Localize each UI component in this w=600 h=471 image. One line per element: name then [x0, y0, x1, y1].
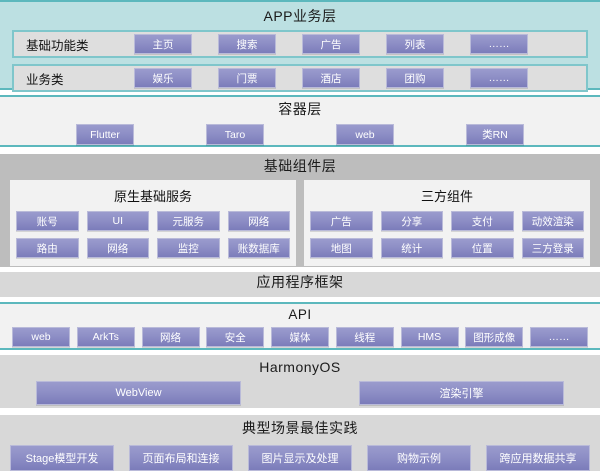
chip-api-media[interactable]: 媒体 — [271, 327, 329, 347]
chip-api-thread[interactable]: 线程 — [336, 327, 394, 347]
chip-third-map[interactable]: 地图 — [310, 238, 373, 258]
chip-third-login[interactable]: 三方登录 — [522, 238, 585, 258]
chip-third-ads[interactable]: 广告 — [310, 211, 373, 231]
chip-practice-image-display[interactable]: 图片显示及处理 — [248, 445, 352, 471]
layer-container: 容器层 Flutter Taro web 类RN — [0, 95, 600, 147]
chip-practice-shopping-demo[interactable]: 购物示例 — [367, 445, 471, 471]
panel-native-services: 原生基础服务 账号 UI 元服务 网络 路由 网络 监控 账数据库 — [10, 180, 296, 266]
chip-native-router[interactable]: 路由 — [16, 238, 79, 258]
layer-app-business: APP业务层 基础功能类 主页 搜索 广告 列表 …… 业务类 娱乐 门票 酒店 — [0, 0, 600, 90]
app-row-business: 业务类 娱乐 门票 酒店 团购 …… — [12, 64, 588, 92]
chip-business-entertainment[interactable]: 娱乐 — [134, 68, 192, 88]
layer-base-components: 基础组件层 原生基础服务 账号 UI 元服务 网络 路由 网络 监控 账数据库 … — [0, 154, 600, 267]
app-row-items-basic-functions: 主页 搜索 广告 列表 …… — [134, 34, 582, 54]
chip-native-metaservice[interactable]: 元服务 — [157, 211, 220, 231]
chip-app-more[interactable]: …… — [470, 34, 528, 54]
chip-container-rnlike[interactable]: 类RN — [466, 124, 524, 145]
chip-native-account[interactable]: 账号 — [16, 211, 79, 231]
chip-native-network[interactable]: 网络 — [228, 211, 291, 231]
chip-native-ui[interactable]: UI — [87, 211, 150, 231]
chip-app-home[interactable]: 主页 — [134, 34, 192, 54]
layer-title-best-practice: 典型场景最佳实践 — [0, 422, 600, 437]
chip-harmony-webview[interactable]: WebView — [36, 381, 241, 405]
chip-api-arkts[interactable]: ArkTs — [77, 327, 135, 347]
chip-third-payment[interactable]: 支付 — [451, 211, 514, 231]
harmony-items: WebView 渲染引擎 — [0, 376, 600, 405]
app-row-label-basic-functions: 基础功能类 — [18, 35, 134, 54]
chip-container-flutter[interactable]: Flutter — [76, 124, 134, 145]
app-row-items-business: 娱乐 门票 酒店 团购 …… — [134, 68, 582, 88]
practice-items: Stage模型开发 页面布局和连接 图片显示及处理 购物示例 跨应用数据共享 — [0, 437, 600, 471]
panel-third-party: 三方组件 广告 分享 支付 动效渲染 地图 统计 位置 三方登录 — [304, 180, 590, 266]
api-items: web ArkTs 网络 安全 媒体 线程 HMS 图形成像 …… — [0, 322, 600, 347]
layer-harmonyos: HarmonyOS WebView 渲染引擎 — [0, 355, 600, 408]
chip-api-web[interactable]: web — [12, 327, 70, 347]
chip-api-graphics[interactable]: 图形成像 — [465, 327, 523, 347]
layer-title-api: API — [0, 308, 600, 323]
chip-native-network-2[interactable]: 网络 — [87, 238, 150, 258]
chip-container-web[interactable]: web — [336, 124, 394, 145]
chip-business-hotel[interactable]: 酒店 — [302, 68, 360, 88]
chip-app-ads[interactable]: 广告 — [302, 34, 360, 54]
divider-harmony-practice — [0, 408, 600, 415]
chip-native-monitor[interactable]: 监控 — [157, 238, 220, 258]
layer-best-practice: 典型场景最佳实践 Stage模型开发 页面布局和连接 图片显示及处理 购物示例 … — [0, 415, 600, 471]
base-panels: 原生基础服务 账号 UI 元服务 网络 路由 网络 监控 账数据库 三方组件 广… — [0, 180, 600, 274]
chip-api-network[interactable]: 网络 — [142, 327, 200, 347]
chip-app-list[interactable]: 列表 — [386, 34, 444, 54]
chip-third-share[interactable]: 分享 — [381, 211, 444, 231]
chip-api-more[interactable]: …… — [530, 327, 588, 347]
panel-title-third-party: 三方组件 — [310, 186, 584, 205]
third-party-grid: 广告 分享 支付 动效渲染 地图 统计 位置 三方登录 — [310, 211, 584, 258]
chip-app-search[interactable]: 搜索 — [218, 34, 276, 54]
chip-practice-page-layout[interactable]: 页面布局和连接 — [129, 445, 233, 471]
chip-api-security[interactable]: 安全 — [206, 327, 264, 347]
layer-title-base-components: 基础组件层 — [0, 160, 600, 175]
layer-api: API web ArkTs 网络 安全 媒体 线程 HMS 图形成像 …… — [0, 302, 600, 351]
chip-third-analytics[interactable]: 统计 — [381, 238, 444, 258]
chip-business-more[interactable]: …… — [470, 68, 528, 88]
chip-third-location[interactable]: 位置 — [451, 238, 514, 258]
chip-business-tickets[interactable]: 门票 — [218, 68, 276, 88]
chip-container-taro[interactable]: Taro — [206, 124, 264, 145]
container-items: Flutter Taro web 类RN — [0, 124, 600, 145]
chip-harmony-render-engine[interactable]: 渲染引擎 — [359, 381, 564, 405]
layer-app-framework: 应用程序框架 — [0, 272, 600, 297]
layer-title-app-business: APP业务层 — [0, 9, 600, 24]
chip-practice-stage-model[interactable]: Stage模型开发 — [10, 445, 114, 471]
chip-business-groupbuy[interactable]: 团购 — [386, 68, 444, 88]
app-row-basic-functions: 基础功能类 主页 搜索 广告 列表 …… — [12, 30, 588, 58]
native-services-grid: 账号 UI 元服务 网络 路由 网络 监控 账数据库 — [16, 211, 290, 258]
app-row-label-business: 业务类 — [18, 69, 134, 88]
chip-api-hms[interactable]: HMS — [401, 327, 459, 347]
chip-native-database[interactable]: 账数据库 — [228, 238, 291, 258]
layer-title-container: 容器层 — [0, 103, 600, 118]
chip-practice-data-sharing[interactable]: 跨应用数据共享 — [486, 445, 590, 471]
panel-title-native-services: 原生基础服务 — [16, 186, 290, 205]
architecture-diagram: APP业务层 基础功能类 主页 搜索 广告 列表 …… 业务类 娱乐 门票 酒店 — [0, 0, 600, 471]
layer-title-harmonyos: HarmonyOS — [0, 360, 600, 375]
divider-container-base — [0, 147, 600, 154]
layer-title-app-framework: 应用程序框架 — [257, 276, 344, 291]
chip-third-animation[interactable]: 动效渲染 — [522, 211, 585, 231]
